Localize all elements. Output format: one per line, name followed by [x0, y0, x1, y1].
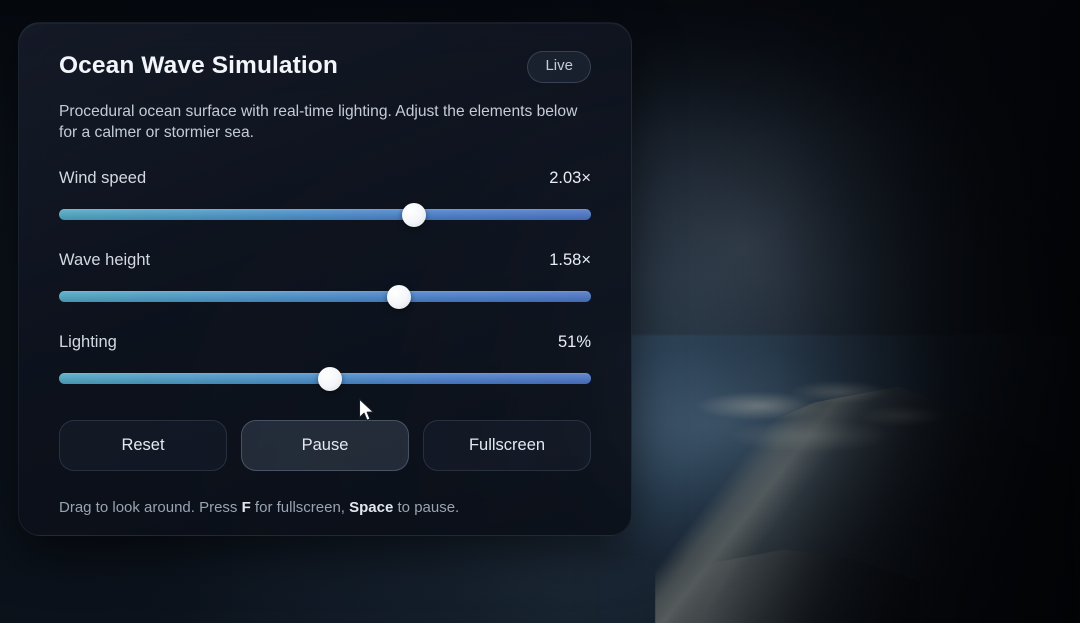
reset-button[interactable]: Reset	[59, 420, 227, 471]
slider-wind-speed-track[interactable]	[59, 209, 591, 220]
slider-lighting-track[interactable]	[59, 373, 591, 384]
panel-description: Procedural ocean surface with real-time …	[59, 101, 591, 144]
slider-wind-speed[interactable]	[59, 204, 591, 226]
slider-wave-height-label: Wave height	[59, 251, 150, 270]
app-viewport: Ocean Wave Simulation Live Procedural oc…	[0, 0, 1080, 623]
slider-lighting-row: Lighting 51%	[59, 333, 591, 352]
slider-wave-height[interactable]	[59, 286, 591, 308]
slider-wave-height-track[interactable]	[59, 291, 591, 302]
keyboard-hint: Drag to look around. Press F for fullscr…	[59, 498, 591, 518]
slider-wind-speed-row: Wind speed 2.03×	[59, 169, 591, 188]
hint-middle: for fullscreen,	[251, 499, 349, 516]
page-title: Ocean Wave Simulation	[59, 53, 338, 80]
hint-prefix: Drag to look around. Press	[59, 499, 242, 516]
slider-lighting-value: 51%	[558, 333, 591, 352]
hint-suffix: to pause.	[393, 499, 459, 516]
fullscreen-button[interactable]: Fullscreen	[423, 420, 591, 471]
hint-key-space: Space	[349, 499, 393, 516]
slider-wind-speed-thumb[interactable]	[402, 203, 426, 227]
slider-wind-speed-value: 2.03×	[549, 169, 591, 188]
slider-lighting-label: Lighting	[59, 333, 117, 352]
panel-header: Ocean Wave Simulation Live	[41, 51, 609, 83]
hint-key-f: F	[242, 499, 251, 516]
slider-lighting[interactable]	[59, 368, 591, 390]
slider-wave-height-group: Wave height 1.58×	[59, 226, 591, 308]
slider-lighting-group: Lighting 51%	[59, 308, 591, 390]
status-badge-live: Live	[527, 51, 591, 83]
slider-wind-speed-label: Wind speed	[59, 169, 146, 188]
simulation-control-panel: Ocean Wave Simulation Live Procedural oc…	[18, 22, 632, 536]
slider-wave-height-thumb[interactable]	[387, 285, 411, 309]
pause-button[interactable]: Pause	[241, 420, 409, 471]
slider-wave-height-row: Wave height 1.58×	[59, 251, 591, 270]
slider-wave-height-value: 1.58×	[549, 251, 591, 270]
slider-wind-speed-group: Wind speed 2.03×	[59, 144, 591, 226]
action-button-row: Reset Pause Fullscreen	[59, 420, 591, 471]
slider-lighting-thumb[interactable]	[318, 367, 342, 391]
